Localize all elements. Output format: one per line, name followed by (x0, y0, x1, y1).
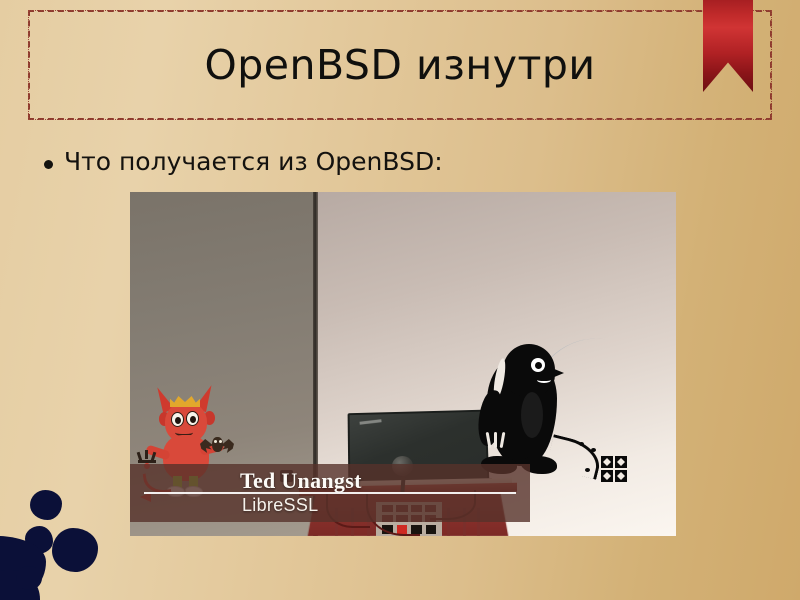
penguin-tail-feathers (487, 432, 513, 450)
lower-third-rule (144, 492, 516, 494)
bat-icon (200, 435, 234, 457)
ink-blot (25, 526, 53, 554)
screen-glint (360, 419, 382, 424)
bullet-list-item: Что получается из OpenBSD: (44, 147, 443, 177)
ink-blot (0, 570, 40, 600)
stream-droplet (585, 468, 590, 472)
penguin-eye (531, 358, 545, 372)
ink-blot (0, 536, 46, 600)
bullet-dot-icon (44, 160, 53, 169)
title-box: OpenBSD изнутри (28, 10, 772, 120)
daemon-pupil (190, 416, 196, 423)
ink-blot (30, 490, 62, 520)
page-title: OpenBSD изнутри (204, 45, 595, 86)
conference-talk-photo: Ted Unangst LibreSSL (130, 192, 676, 536)
windows-logo-icon (601, 456, 627, 482)
penguin-smile (537, 377, 551, 383)
ink-blot (52, 528, 98, 572)
penguin-belly (521, 392, 543, 438)
stream-droplet (579, 442, 584, 446)
speaker-topic: LibreSSL (242, 495, 318, 516)
speaker-name: Ted Unangst (240, 468, 362, 494)
stream-droplet (591, 448, 596, 452)
ink-blot (16, 566, 42, 590)
daemon-pupil (175, 417, 181, 424)
bullet-item-label: Что получается из OpenBSD: (64, 147, 443, 177)
